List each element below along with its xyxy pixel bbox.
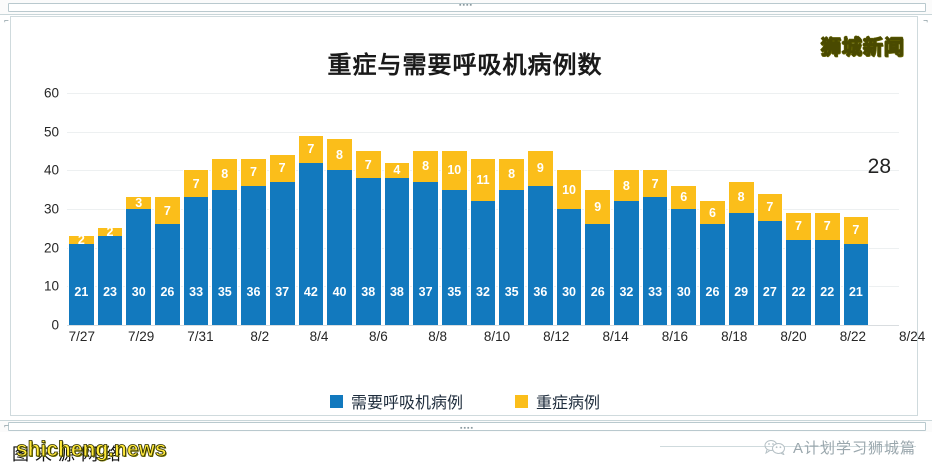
- bar-segment-ventilator[interactable]: 35: [211, 190, 238, 325]
- bar-group[interactable]: 835: [210, 93, 239, 325]
- bar-segment-severe[interactable]: 8: [326, 139, 353, 170]
- bar-group[interactable]: 438: [383, 93, 412, 325]
- y-tick-label: 30: [44, 202, 59, 217]
- site-watermark: shicheng.news: [16, 438, 167, 462]
- bar-value-label: 29: [729, 285, 754, 299]
- bar-value-label: 30: [126, 285, 151, 299]
- bar-group[interactable]: 926: [583, 93, 612, 325]
- bar-value-label: 22: [815, 285, 840, 299]
- bar-group[interactable]: 722: [784, 93, 813, 325]
- bar-value-label: 33: [184, 285, 209, 299]
- bar-value-label: 8: [614, 179, 639, 193]
- bar-segment-ventilator[interactable]: 26: [699, 224, 726, 325]
- x-tick-label: 8/12: [543, 329, 569, 344]
- bar-value-label: 8: [729, 190, 754, 204]
- image-credit: 图来源网络 shicheng.news: [12, 434, 292, 468]
- bar-segment-severe[interactable]: 7: [757, 194, 784, 221]
- bar-segment-severe[interactable]: 8: [728, 182, 755, 213]
- bar-value-label: 7: [270, 161, 295, 175]
- bar-value-label: 8: [327, 148, 352, 162]
- bar-segment-severe[interactable]: 7: [154, 197, 181, 224]
- top-right-corner-handle[interactable]: ¬: [921, 16, 930, 25]
- bar-value-label: 26: [700, 285, 725, 299]
- bar-segment-severe[interactable]: 7: [814, 213, 841, 240]
- x-tick-label: 8/2: [250, 329, 269, 344]
- x-tick-label: 8/6: [369, 329, 388, 344]
- bar-value-label: 36: [241, 285, 266, 299]
- bar-value-label: 37: [270, 285, 295, 299]
- x-tick-label: 8/18: [721, 329, 747, 344]
- bar-segment-ventilator[interactable]: 36: [527, 186, 554, 325]
- bar-value-label: 7: [241, 165, 266, 179]
- bar-segment-severe[interactable]: 7: [298, 136, 325, 163]
- x-tick-label: 8/20: [780, 329, 806, 344]
- bar-group[interactable]: 727: [756, 93, 785, 325]
- bar-group[interactable]: 330: [124, 93, 153, 325]
- bar-value-label: 35: [499, 285, 524, 299]
- footer-strip: 图来源网络 shicheng.news A计划学习狮城篇: [0, 432, 932, 471]
- bar-value-label: 32: [614, 285, 639, 299]
- legend-item[interactable]: 重症病例: [515, 389, 600, 413]
- bar-group[interactable]: 733: [641, 93, 670, 325]
- bar-segment-ventilator[interactable]: 27: [757, 221, 784, 325]
- bar-value-label: 7: [299, 142, 324, 156]
- bar-segment-severe[interactable]: 7: [785, 213, 812, 240]
- bar-segment-ventilator[interactable]: 35: [441, 190, 468, 325]
- bar-segment-severe[interactable]: 8: [412, 151, 439, 182]
- bar-segment-severe[interactable]: 8: [498, 159, 525, 190]
- bar-segment-ventilator[interactable]: 38: [384, 178, 411, 325]
- bar-value-label: 21: [844, 285, 869, 299]
- bar-value-label: 35: [212, 285, 237, 299]
- bar-value-label: 35: [442, 285, 467, 299]
- bar-segment-severe[interactable]: 7: [355, 151, 382, 178]
- bar-segment-severe[interactable]: 9: [584, 190, 611, 225]
- bar-segment-ventilator[interactable]: 29: [728, 213, 755, 325]
- bar-value-label: 7: [758, 200, 783, 214]
- bar-segment-severe[interactable]: 8: [211, 159, 238, 190]
- legend-swatch-icon: [330, 395, 343, 408]
- y-tick-label: 0: [51, 318, 59, 333]
- bar-segment-ventilator[interactable]: 26: [584, 224, 611, 325]
- bar-group[interactable]: 1035: [440, 93, 469, 325]
- y-axis: 0102030405060: [27, 93, 63, 325]
- bar-segment-severe[interactable]: 7: [240, 159, 267, 186]
- bar-segment-severe[interactable]: 7: [183, 170, 210, 197]
- bar-segment-ventilator[interactable]: 23: [97, 236, 124, 325]
- bar-series-container: 2212233307267338357367377428407384388371…: [67, 93, 899, 325]
- gridline: [67, 325, 899, 326]
- bar-value-label: 7: [815, 219, 840, 233]
- x-tick-label: 8/22: [840, 329, 866, 344]
- bar-value-label: 40: [327, 285, 352, 299]
- bar-group[interactable]: 626: [698, 93, 727, 325]
- y-tick-label: 40: [44, 163, 59, 178]
- document-frame: ▪▪▪▪ ⌐ ¬ 重症与需要呼吸机病例数 狮城新闻 0102030405060 …: [0, 0, 932, 471]
- x-tick-label: 8/4: [310, 329, 329, 344]
- bar-group[interactable]: 737: [268, 93, 297, 325]
- bar-segment-ventilator[interactable]: 30: [125, 209, 152, 325]
- bar-value-label: 7: [184, 177, 209, 191]
- bar-value-label: 7: [643, 177, 668, 191]
- bar-segment-severe[interactable]: 2: [68, 236, 95, 244]
- top-ruler: ▪▪▪▪: [0, 0, 932, 15]
- bar-value-label: 11: [471, 173, 496, 187]
- y-tick-label: 20: [44, 240, 59, 255]
- bar-segment-severe[interactable]: 10: [556, 170, 583, 209]
- latest-value-annotation: 28: [868, 155, 891, 179]
- bar-segment-severe[interactable]: 11: [470, 159, 497, 202]
- bar-segment-ventilator[interactable]: 26: [154, 224, 181, 325]
- bar-segment-ventilator[interactable]: 40: [326, 170, 353, 325]
- bar-segment-severe[interactable]: 7: [642, 170, 669, 197]
- bar-group[interactable]: 722: [813, 93, 842, 325]
- bar-segment-ventilator[interactable]: 36: [240, 186, 267, 325]
- bar-value-label: 7: [155, 204, 180, 218]
- top-ruler-marks: ▪▪▪▪: [459, 2, 473, 9]
- bar-segment-severe[interactable]: 4: [384, 163, 411, 178]
- bar-segment-ventilator[interactable]: 38: [355, 178, 382, 325]
- legend-label: 需要呼吸机病例: [351, 389, 463, 413]
- bar-segment-ventilator[interactable]: 30: [556, 209, 583, 325]
- bar-segment-severe[interactable]: 7: [843, 217, 870, 244]
- bar-group[interactable]: 829: [727, 93, 756, 325]
- bar-group[interactable]: 1030: [555, 93, 584, 325]
- bar-value-label: 33: [643, 285, 668, 299]
- bar-value-label: 27: [758, 285, 783, 299]
- legend-swatch-icon: [515, 395, 528, 408]
- bar-value-label: 38: [356, 285, 381, 299]
- bar-value-label: 30: [671, 285, 696, 299]
- bar-segment-severe[interactable]: 9: [527, 151, 554, 186]
- chart-card: 重症与需要呼吸机病例数 狮城新闻 0102030405060 221223330…: [10, 16, 918, 416]
- bar-group[interactable]: 736: [239, 93, 268, 325]
- y-tick-label: 10: [44, 279, 59, 294]
- bar-group[interactable]: 936: [526, 93, 555, 325]
- bar-group[interactable]: [870, 93, 899, 325]
- bar-segment-severe[interactable]: 6: [699, 201, 726, 224]
- bar-value-label: 30: [557, 285, 582, 299]
- bar-value-label: 8: [413, 159, 438, 173]
- bar-segment-ventilator[interactable]: 22: [814, 240, 841, 325]
- bar-value-label: 32: [471, 285, 496, 299]
- bar-group[interactable]: 721: [842, 93, 871, 325]
- bar-segment-severe[interactable]: 3: [125, 197, 152, 209]
- wechat-account-name: A计划学习狮城篇: [793, 437, 916, 458]
- bar-segment-ventilator[interactable]: 35: [498, 190, 525, 325]
- bar-segment-ventilator[interactable]: 21: [68, 244, 95, 325]
- bar-segment-severe[interactable]: 8: [613, 170, 640, 201]
- bar-value-label: 6: [700, 206, 725, 220]
- bar-value-label: 23: [98, 285, 123, 299]
- bar-value-label: 9: [585, 200, 610, 214]
- bar-group[interactable]: 1132: [469, 93, 498, 325]
- bar-value-label: 7: [356, 158, 381, 172]
- bar-segment-ventilator[interactable]: 22: [785, 240, 812, 325]
- bar-group[interactable]: 837: [411, 93, 440, 325]
- bar-segment-ventilator[interactable]: 33: [642, 197, 669, 325]
- plot-grid: 2212233307267338357367377428407384388371…: [67, 93, 899, 325]
- bottom-ruler-marks: ▪▪▪▪: [460, 425, 474, 432]
- bar-segment-ventilator[interactable]: 33: [183, 197, 210, 325]
- bar-value-label: 38: [385, 285, 410, 299]
- bottom-left-corner-handle[interactable]: ⌐: [2, 421, 11, 430]
- legend-label: 重症病例: [536, 389, 600, 413]
- bar-value-label: 26: [155, 285, 180, 299]
- bar-group[interactable]: 726: [153, 93, 182, 325]
- bar-value-label: 7: [844, 223, 869, 237]
- chart-legend: 需要呼吸机病例重症病例: [11, 389, 919, 413]
- bar-value-label: 37: [413, 285, 438, 299]
- bar-segment-severe[interactable]: 6: [670, 186, 697, 209]
- bar-value-label: 6: [671, 190, 696, 204]
- bar-value-label: 4: [385, 163, 410, 177]
- x-tick-label: 7/29: [128, 329, 154, 344]
- x-tick-label: 8/16: [662, 329, 688, 344]
- bar-segment-severe[interactable]: 10: [441, 151, 468, 190]
- x-tick-label: 7/31: [187, 329, 213, 344]
- bar-group[interactable]: 742: [297, 93, 326, 325]
- y-tick-label: 50: [44, 124, 59, 139]
- bar-segment-ventilator[interactable]: 37: [412, 182, 439, 325]
- bar-group[interactable]: 840: [325, 93, 354, 325]
- y-tick-label: 60: [44, 86, 59, 101]
- chart-title: 重症与需要呼吸机病例数: [11, 45, 919, 80]
- bar-group[interactable]: 738: [354, 93, 383, 325]
- bar-value-label: 22: [786, 285, 811, 299]
- bar-group[interactable]: 630: [669, 93, 698, 325]
- bar-value-label: 36: [528, 285, 553, 299]
- bar-segment-ventilator[interactable]: 32: [470, 201, 497, 325]
- x-tick-label: 8/10: [484, 329, 510, 344]
- wechat-icon: [764, 439, 786, 455]
- bar-value-label: 42: [299, 285, 324, 299]
- bar-value-label: 10: [557, 183, 582, 197]
- bar-value-label: 10: [442, 163, 467, 177]
- bar-segment-severe[interactable]: 7: [269, 155, 296, 182]
- bar-group[interactable]: 223: [96, 93, 125, 325]
- bottom-ruler-track: ▪▪▪▪: [8, 422, 926, 431]
- wechat-account[interactable]: A计划学习狮城篇: [764, 432, 916, 462]
- bar-segment-severe[interactable]: 2: [97, 228, 124, 236]
- bar-group[interactable]: 733: [182, 93, 211, 325]
- bar-value-label: 21: [69, 285, 94, 299]
- bar-group[interactable]: 221: [67, 93, 96, 325]
- bar-group[interactable]: 832: [612, 93, 641, 325]
- legend-item[interactable]: 需要呼吸机病例: [330, 389, 463, 413]
- bar-value-label: 9: [528, 161, 553, 175]
- source-watermark: 狮城新闻: [821, 31, 905, 60]
- bar-segment-ventilator[interactable]: 42: [298, 163, 325, 325]
- x-tick-label: 8/8: [428, 329, 447, 344]
- bar-value-label: 8: [212, 167, 237, 181]
- bar-value-label: 8: [499, 167, 524, 181]
- bar-group[interactable]: 835: [497, 93, 526, 325]
- bar-value-label: 7: [786, 219, 811, 233]
- x-tick-label: 8/24: [899, 329, 925, 344]
- x-axis: 7/277/297/318/28/48/68/88/108/128/148/16…: [67, 329, 927, 351]
- bar-value-label: 26: [585, 285, 610, 299]
- plot-area: 0102030405060 22122333072673383573673774…: [27, 93, 903, 343]
- x-tick-label: 8/14: [602, 329, 628, 344]
- bar-segment-ventilator[interactable]: 21: [843, 244, 870, 325]
- bar-segment-ventilator[interactable]: 30: [670, 209, 697, 325]
- bar-segment-ventilator[interactable]: 32: [613, 201, 640, 325]
- x-tick-label: 7/27: [69, 329, 95, 344]
- bar-segment-ventilator[interactable]: 37: [269, 182, 296, 325]
